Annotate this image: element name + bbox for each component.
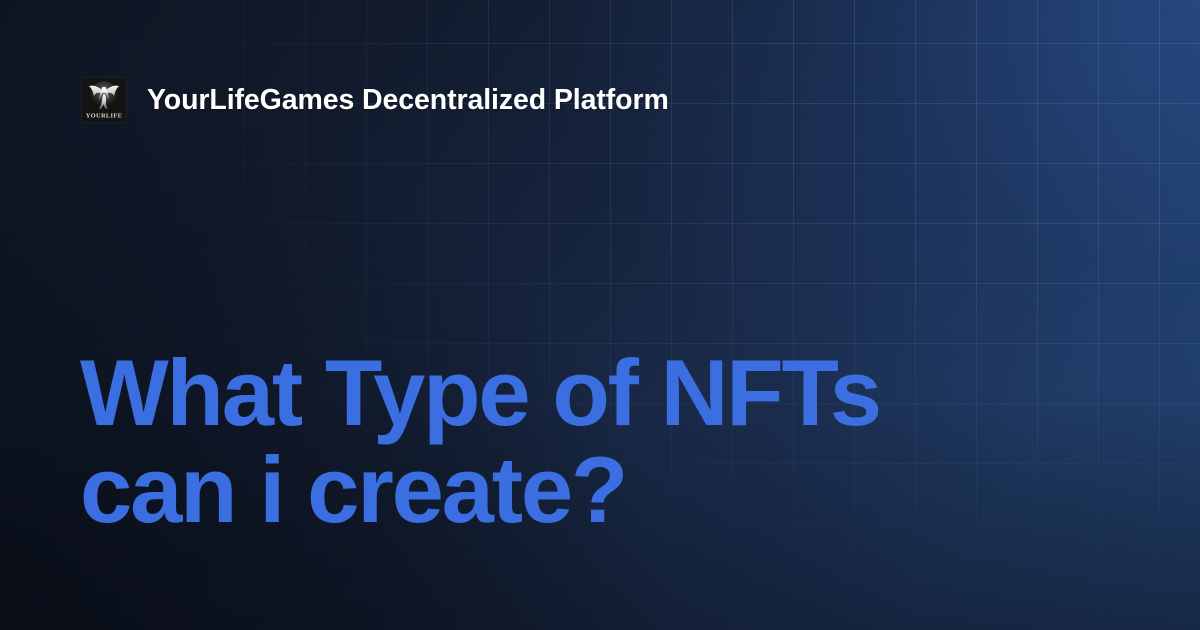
card-content: YOURLIFE YourLifeGames Decentralized Pla… (0, 0, 1200, 630)
brand-header: YOURLIFE YourLifeGames Decentralized Pla… (82, 78, 669, 122)
headline-line-2: can i create? (80, 441, 1080, 538)
yourlife-logo: YOURLIFE (82, 78, 126, 122)
page-title: YourLifeGames Decentralized Platform (147, 86, 669, 115)
headline: What Type of NFTs can i create? (80, 344, 1080, 538)
svg-text:YOURLIFE: YOURLIFE (86, 113, 123, 120)
yourlife-winged-figure-icon: YOURLIFE (82, 78, 126, 122)
headline-line-1: What Type of NFTs (80, 344, 1080, 441)
og-card: YOURLIFE YourLifeGames Decentralized Pla… (0, 0, 1200, 630)
